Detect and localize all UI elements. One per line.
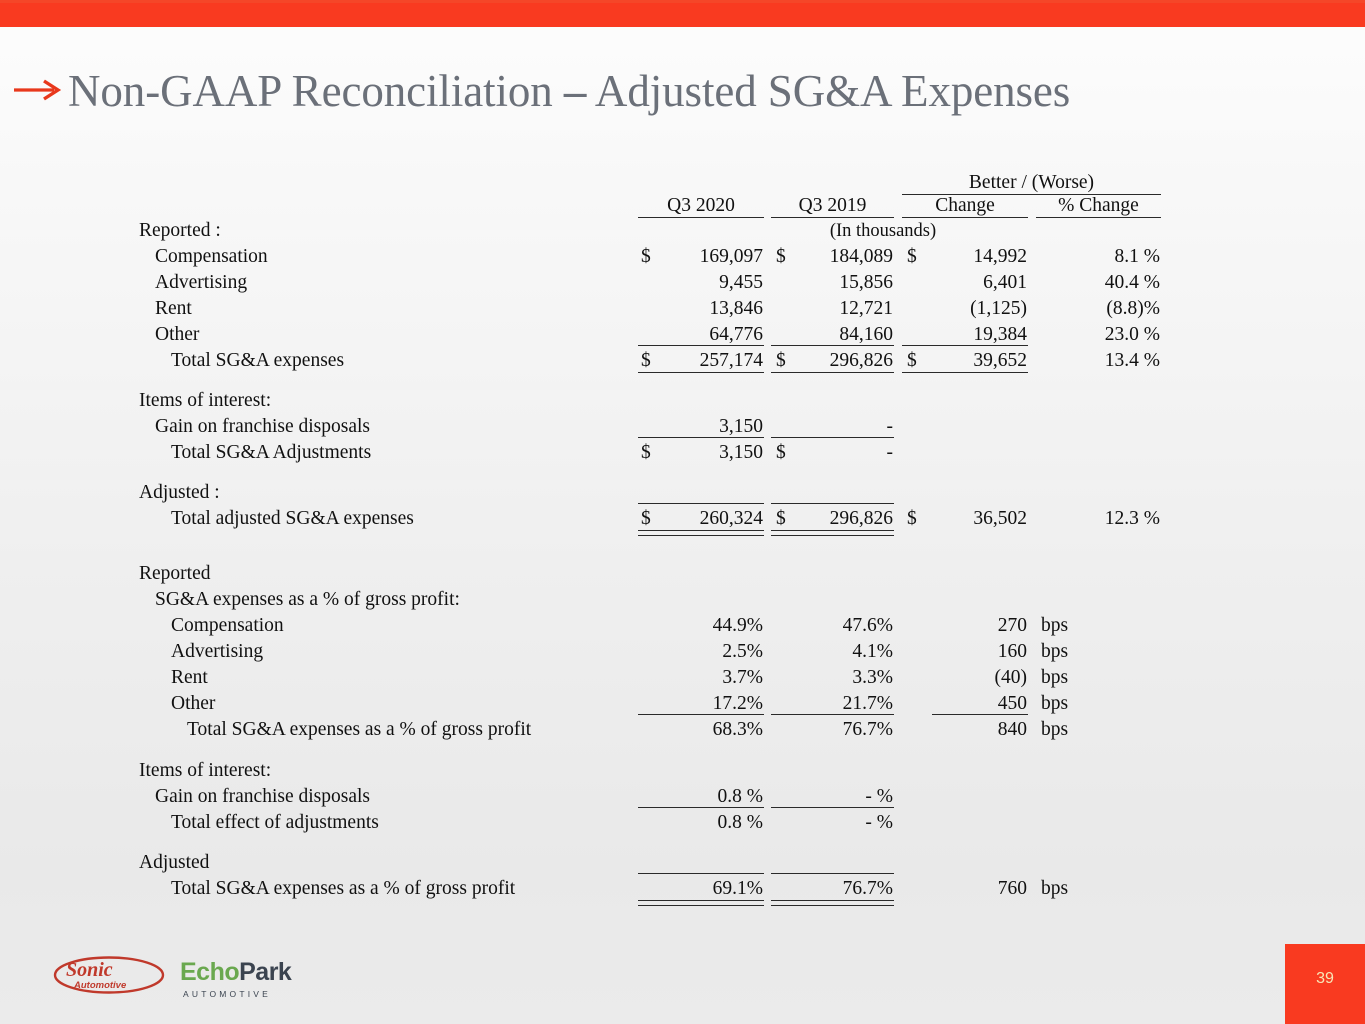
value-rent-q3-2019: 12,721 <box>772 296 893 322</box>
header-q3-2020: Q3 2020 <box>638 193 764 219</box>
label-gain-on-franchise-disposals-2: Gain on franchise disposals <box>155 784 370 810</box>
label-rent: Rent <box>155 296 192 322</box>
label-reported: Reported : <box>139 218 221 244</box>
adjusted-top-rule-q3-2020 <box>638 503 764 504</box>
page-title-part1: Non-GAAP Reconciliation <box>68 66 564 116</box>
value-pct-compensation-q3-2019: 47.6% <box>772 613 893 639</box>
value-pct-advertising-change: 160 <box>903 639 1027 665</box>
label-reported-pct: Reported <box>139 561 210 587</box>
value-total-adjustments-q3-2020: 3,150 <box>638 440 763 466</box>
page-number-badge: 39 <box>1285 944 1365 1024</box>
header-pct-change: % Change <box>1036 193 1161 219</box>
label-total-sga: Total SG&A expenses <box>171 348 344 374</box>
row-reported-header: Reported : <box>0 218 1365 244</box>
value-pct-compensation-change: 270 <box>903 613 1027 639</box>
value-rent-pct-change: (8.8)% <box>1037 296 1160 322</box>
value-total-adjusted-q3-2020: 260,324 <box>638 506 763 532</box>
label-pct-other: Other <box>171 691 215 717</box>
row-pct-compensation: Compensation 44.9% 47.6% 270 bps <box>0 613 1365 639</box>
adjusted-top-rule-q3-2019 <box>771 503 894 504</box>
echopark-word-park: Park <box>239 958 291 986</box>
value-compensation-q3-2019: 184,089 <box>772 244 893 270</box>
unit-pct-total-sga-bps: bps <box>1041 717 1085 743</box>
value-pct-total-adjusted-change: 760 <box>903 876 1027 902</box>
row-pct-total-adjusted: Total SG&A expenses as a % of gross prof… <box>0 876 1365 902</box>
pct-effect-rule-q3-2019 <box>771 807 894 808</box>
value-pct-total-adjusted-q3-2020: 69.1% <box>638 876 763 902</box>
label-pct-advertising: Advertising <box>171 639 263 665</box>
row-pct-advertising: Advertising 2.5% 4.1% 160 bps <box>0 639 1365 665</box>
value-rent-q3-2020: 13,846 <box>638 296 763 322</box>
pct-adjusted-double-rule-q3-2020 <box>638 900 764 906</box>
row-total-sga-adjustments: Total SG&A Adjustments $ 3,150 $ - <box>0 440 1365 466</box>
header-q3-2019: Q3 2019 <box>771 193 894 219</box>
slide-canvas: Non-GAAP Reconciliation – Adjusted SG&A … <box>0 0 1365 1024</box>
row-reported-pct-header: Reported <box>0 561 1365 587</box>
row-rent: Rent 13,846 12,721 (1,125) (8.8)% <box>0 296 1365 322</box>
row-pct-rent: Rent 3.7% 3.3% (40) bps <box>0 665 1365 691</box>
label-adjusted: Adjusted : <box>139 480 220 506</box>
value-pct-total-effect-q3-2019: - % <box>772 810 893 836</box>
page-title-part2: Adjusted SG&A Expenses <box>586 66 1070 116</box>
value-pct-total-sga-q3-2019: 76.7% <box>772 717 893 743</box>
slide-title-row: Non-GAAP Reconciliation – Adjusted SG&A … <box>0 64 1365 126</box>
label-total-effect-of-adjustments: Total effect of adjustments <box>171 810 379 836</box>
value-total-sga-q3-2020: 257,174 <box>638 348 763 374</box>
reconciliation-table: Better / (Worse) Q3 2020 Q3 2019 Change … <box>0 160 1365 930</box>
label-pct-rent: Rent <box>171 665 208 691</box>
unit-pct-total-adjusted-bps: bps <box>1041 876 1085 902</box>
value-total-adjusted-pct-change: 12.3 % <box>1037 506 1160 532</box>
value-compensation-change: 14,992 <box>903 244 1027 270</box>
value-pct-total-effect-q3-2020: 0.8 % <box>638 810 763 836</box>
pct-subtotal-rule-q3-2020 <box>638 714 764 715</box>
footer: Sonic Automotive EchoPark AUTOMOTIVE <box>0 940 1365 1024</box>
value-pct-advertising-q3-2020: 2.5% <box>638 639 763 665</box>
echopark-word-echo: Echo <box>180 958 239 986</box>
label-items-of-interest-2: Items of interest: <box>139 758 271 784</box>
pct-effect-rule-q3-2020 <box>638 807 764 808</box>
total-rule-change <box>902 372 1028 373</box>
value-advertising-change: 6,401 <box>903 270 1027 296</box>
label-items-of-interest: Items of interest: <box>139 388 271 414</box>
adjusted-double-rule-q3-2020 <box>638 530 764 536</box>
value-pct-advertising-q3-2019: 4.1% <box>772 639 893 665</box>
unit-pct-advertising-bps: bps <box>1041 639 1085 665</box>
value-pct-compensation-q3-2020: 44.9% <box>638 613 763 639</box>
subtotal-rule-change <box>902 345 1028 346</box>
label-sga-pct-of-gross-profit: SG&A expenses as a % of gross profit: <box>155 587 460 613</box>
label-compensation: Compensation <box>155 244 268 270</box>
table-header-row: Q3 2020 Q3 2019 Change % Change <box>0 193 1365 219</box>
pct-adjusted-double-rule-q3-2019 <box>771 900 894 906</box>
total-rule-q3-2020 <box>638 372 764 373</box>
pct-adjusted-top-rule-q3-2019 <box>771 873 894 874</box>
value-total-adjusted-change: 36,502 <box>903 506 1027 532</box>
label-total-adjusted-sga-expenses: Total adjusted SG&A expenses <box>171 506 414 532</box>
row-pct-total-effect-adjustments: Total effect of adjustments 0.8 % - % <box>0 810 1365 836</box>
page-number: 39 <box>1285 970 1365 988</box>
label-total-sga-pct-of-gross-profit-2: Total SG&A expenses as a % of gross prof… <box>171 876 515 902</box>
label-total-sga-adjustments: Total SG&A Adjustments <box>171 440 371 466</box>
row-sga-pct-of-gross-profit-header: SG&A expenses as a % of gross profit: <box>0 587 1365 613</box>
pct-subtotal-rule-change <box>932 714 1028 715</box>
row-pct-total-sga: Total SG&A expenses as a % of gross prof… <box>0 717 1365 743</box>
value-pct-total-sga-q3-2020: 68.3% <box>638 717 763 743</box>
value-total-sga-change: 39,652 <box>903 348 1027 374</box>
value-other-pct-change: 23.0 % <box>1037 322 1160 348</box>
row-advertising: Advertising 9,455 15,856 6,401 40.4 % <box>0 270 1365 296</box>
value-pct-total-adjusted-q3-2019: 76.7% <box>772 876 893 902</box>
value-rent-change: (1,125) <box>903 296 1027 322</box>
row-total-sga: Total SG&A expenses $ 257,174 $ 296,826 … <box>0 348 1365 374</box>
value-total-adjustments-q3-2019: - <box>772 440 893 466</box>
page-title-dash: – <box>564 66 586 116</box>
row-compensation: Compensation $ 169,097 $ 184,089 $ 14,99… <box>0 244 1365 270</box>
echopark-subtitle: AUTOMOTIVE <box>180 989 330 999</box>
svg-text:Automotive: Automotive <box>73 980 127 991</box>
value-advertising-pct-change: 40.4 % <box>1037 270 1160 296</box>
header-change: Change <box>902 193 1028 219</box>
adjustments-rule-q3-2019 <box>771 437 894 438</box>
value-total-sga-q3-2019: 296,826 <box>772 348 893 374</box>
total-rule-q3-2019 <box>771 372 894 373</box>
unit-pct-other-bps: bps <box>1041 691 1085 717</box>
subtotal-rule-q3-2020 <box>638 345 764 346</box>
unit-pct-compensation-bps: bps <box>1041 613 1085 639</box>
unit-pct-rent-bps: bps <box>1041 665 1085 691</box>
label-gain-on-franchise-disposals: Gain on franchise disposals <box>155 414 370 440</box>
adjusted-double-rule-q3-2019 <box>771 530 894 536</box>
value-advertising-q3-2020: 9,455 <box>638 270 763 296</box>
label-other: Other <box>155 322 199 348</box>
label-adjusted-2: Adjusted <box>139 850 209 876</box>
top-accent-bar-highlight <box>0 0 1365 3</box>
value-total-sga-pct-change: 13.4 % <box>1037 348 1160 374</box>
row-items-of-interest-2-header: Items of interest: <box>0 758 1365 784</box>
value-compensation-q3-2020: 169,097 <box>638 244 763 270</box>
sonic-automotive-logo: Sonic Automotive <box>52 954 167 996</box>
value-pct-rent-q3-2019: 3.3% <box>772 665 893 691</box>
value-compensation-pct-change: 8.1 % <box>1037 244 1160 270</box>
arrow-right-icon <box>14 78 64 102</box>
label-pct-compensation: Compensation <box>171 613 284 639</box>
row-items-of-interest-header: Items of interest: <box>0 388 1365 414</box>
page-title: Non-GAAP Reconciliation – Adjusted SG&A … <box>68 60 1070 122</box>
echopark-wordmark: EchoPark <box>180 958 330 987</box>
label-advertising: Advertising <box>155 270 247 296</box>
value-pct-rent-change: (40) <box>903 665 1027 691</box>
echopark-automotive-logo: EchoPark AUTOMOTIVE <box>180 958 330 998</box>
value-pct-rent-q3-2020: 3.7% <box>638 665 763 691</box>
value-advertising-q3-2019: 15,856 <box>772 270 893 296</box>
pct-adjusted-top-rule-q3-2020 <box>638 873 764 874</box>
value-pct-total-sga-change: 840 <box>903 717 1027 743</box>
svg-text:Sonic: Sonic <box>66 959 113 981</box>
subtotal-rule-q3-2019 <box>771 345 894 346</box>
top-accent-bar <box>0 0 1365 27</box>
row-total-adjusted-sga: Total adjusted SG&A expenses $ 260,324 $… <box>0 506 1365 532</box>
pct-subtotal-rule-q3-2019 <box>771 714 894 715</box>
value-total-adjusted-q3-2019: 296,826 <box>772 506 893 532</box>
adjustments-rule-q3-2020 <box>638 437 764 438</box>
label-total-sga-pct-of-gross-profit: Total SG&A expenses as a % of gross prof… <box>187 717 531 743</box>
